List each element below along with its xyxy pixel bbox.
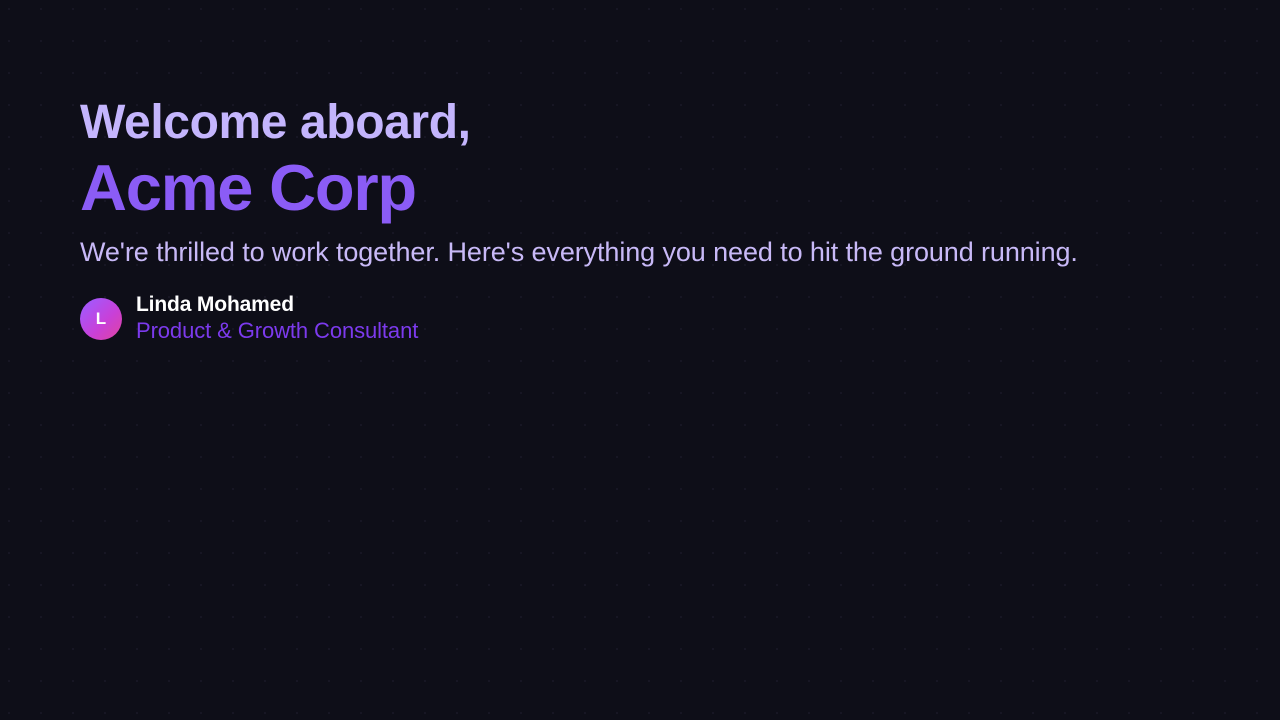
greeting-text: Welcome aboard, [80,96,1200,150]
consultant-name: Linda Mohamed [136,293,418,317]
welcome-screen: Welcome aboard, Acme Corp We're thrilled… [0,0,1280,720]
company-name-text: Acme Corp [80,152,1200,224]
page-title: Welcome aboard, Acme Corp [80,96,1200,223]
avatar-initial: L [96,310,107,327]
hero-section: Welcome aboard, Acme Corp We're thrilled… [80,96,1200,344]
avatar: L [80,298,122,340]
consultant-role: Product & Growth Consultant [136,318,418,344]
hero-subtitle: We're thrilled to work together. Here's … [80,235,1200,271]
consultant-card: L Linda Mohamed Product & Growth Consult… [80,293,1200,345]
consultant-info: Linda Mohamed Product & Growth Consultan… [136,293,418,345]
